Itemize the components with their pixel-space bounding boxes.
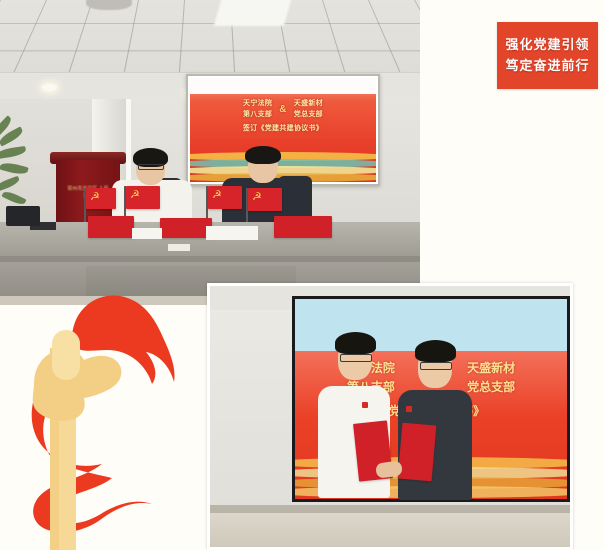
party-flag: ☭ <box>208 186 242 209</box>
document-paper <box>206 226 258 240</box>
screen-caption: 天宁法院 第八支部 & 天盛新材 党总支部 签订《党建共建协议书》 <box>190 98 376 134</box>
hammer-sickle-icon: ☭ <box>90 192 101 204</box>
hammer-sickle-icon: ☭ <box>212 190 223 202</box>
hammer-sickle-icon: ☭ <box>130 190 141 202</box>
party-flag: ☭ <box>126 186 160 209</box>
screen-right-line1: 天盛新材 <box>294 98 323 109</box>
ceiling-skylight <box>214 0 293 26</box>
glasses-icon <box>138 164 164 170</box>
screen-right-line2: 党总支部 <box>294 109 323 120</box>
photo-handshake: 天宁法院 第八支部 & 天盛新材 党总支部 《党建共建协议书》 <box>207 283 573 550</box>
torch-thumb <box>52 330 80 380</box>
projection-screen-content: 天宁法院 第八支部 & 天盛新材 党总支部 签订《党建共建协议书》 <box>190 78 376 182</box>
backdrop-right-line2: 党总支部 <box>467 378 515 397</box>
red-folder <box>274 216 332 238</box>
document-paper <box>132 228 162 239</box>
screen-left-line2: 第八支部 <box>243 109 272 120</box>
ceiling-tile-grid <box>0 0 420 83</box>
meeting-room-scene: 天宁法院 第八支部 & 天盛新材 党总支部 签订《党建共建协议书》 <box>0 0 420 305</box>
backdrop-right-line1: 天盛新材 <box>467 359 515 378</box>
ceiling-vent-icon <box>86 0 132 10</box>
downlight-icon <box>42 84 57 91</box>
banner-line-1: 强化党建引领 <box>505 38 589 52</box>
red-folder <box>160 218 212 238</box>
party-flag: ☭ <box>86 188 116 209</box>
glasses-icon <box>340 354 372 362</box>
screen-ampersand: & <box>279 104 287 115</box>
party-flag: ☭ <box>248 188 282 211</box>
poster-canvas: 天宁法院 第八支部 & 天盛新材 党总支部 签订《党建共建协议书》 <box>0 0 604 550</box>
photo-signing-ceremony: 天宁法院 第八支部 & 天盛新材 党总支部 签订《党建共建协议书》 <box>0 0 420 305</box>
red-certificate-folder <box>398 423 437 482</box>
screen-bottom-line: 签订《党建共建协议书》 <box>190 123 376 134</box>
party-badge-icon <box>362 402 368 408</box>
screen-left-line1: 天宁法院 <box>243 98 272 109</box>
ceiling <box>0 0 420 78</box>
red-folder <box>88 216 134 238</box>
banner-line-2: 笃定奋进前行 <box>505 59 589 73</box>
slogan-banner: 强化党建引领 笃定奋进前行 <box>497 22 598 89</box>
handshake-floor <box>210 513 570 547</box>
glasses-icon <box>420 362 452 370</box>
laptop-screen <box>6 206 40 226</box>
torch-graphic <box>0 292 212 550</box>
handshake-baseboard <box>210 505 570 513</box>
document-paper <box>168 244 190 251</box>
hammer-sickle-icon: ☭ <box>252 192 263 204</box>
screen-top-band <box>190 78 376 94</box>
party-badge-icon <box>406 406 412 412</box>
projection-screen: 天宁法院 第八支部 & 天盛新材 党总支部 签订《党建共建协议书》 <box>186 74 380 186</box>
